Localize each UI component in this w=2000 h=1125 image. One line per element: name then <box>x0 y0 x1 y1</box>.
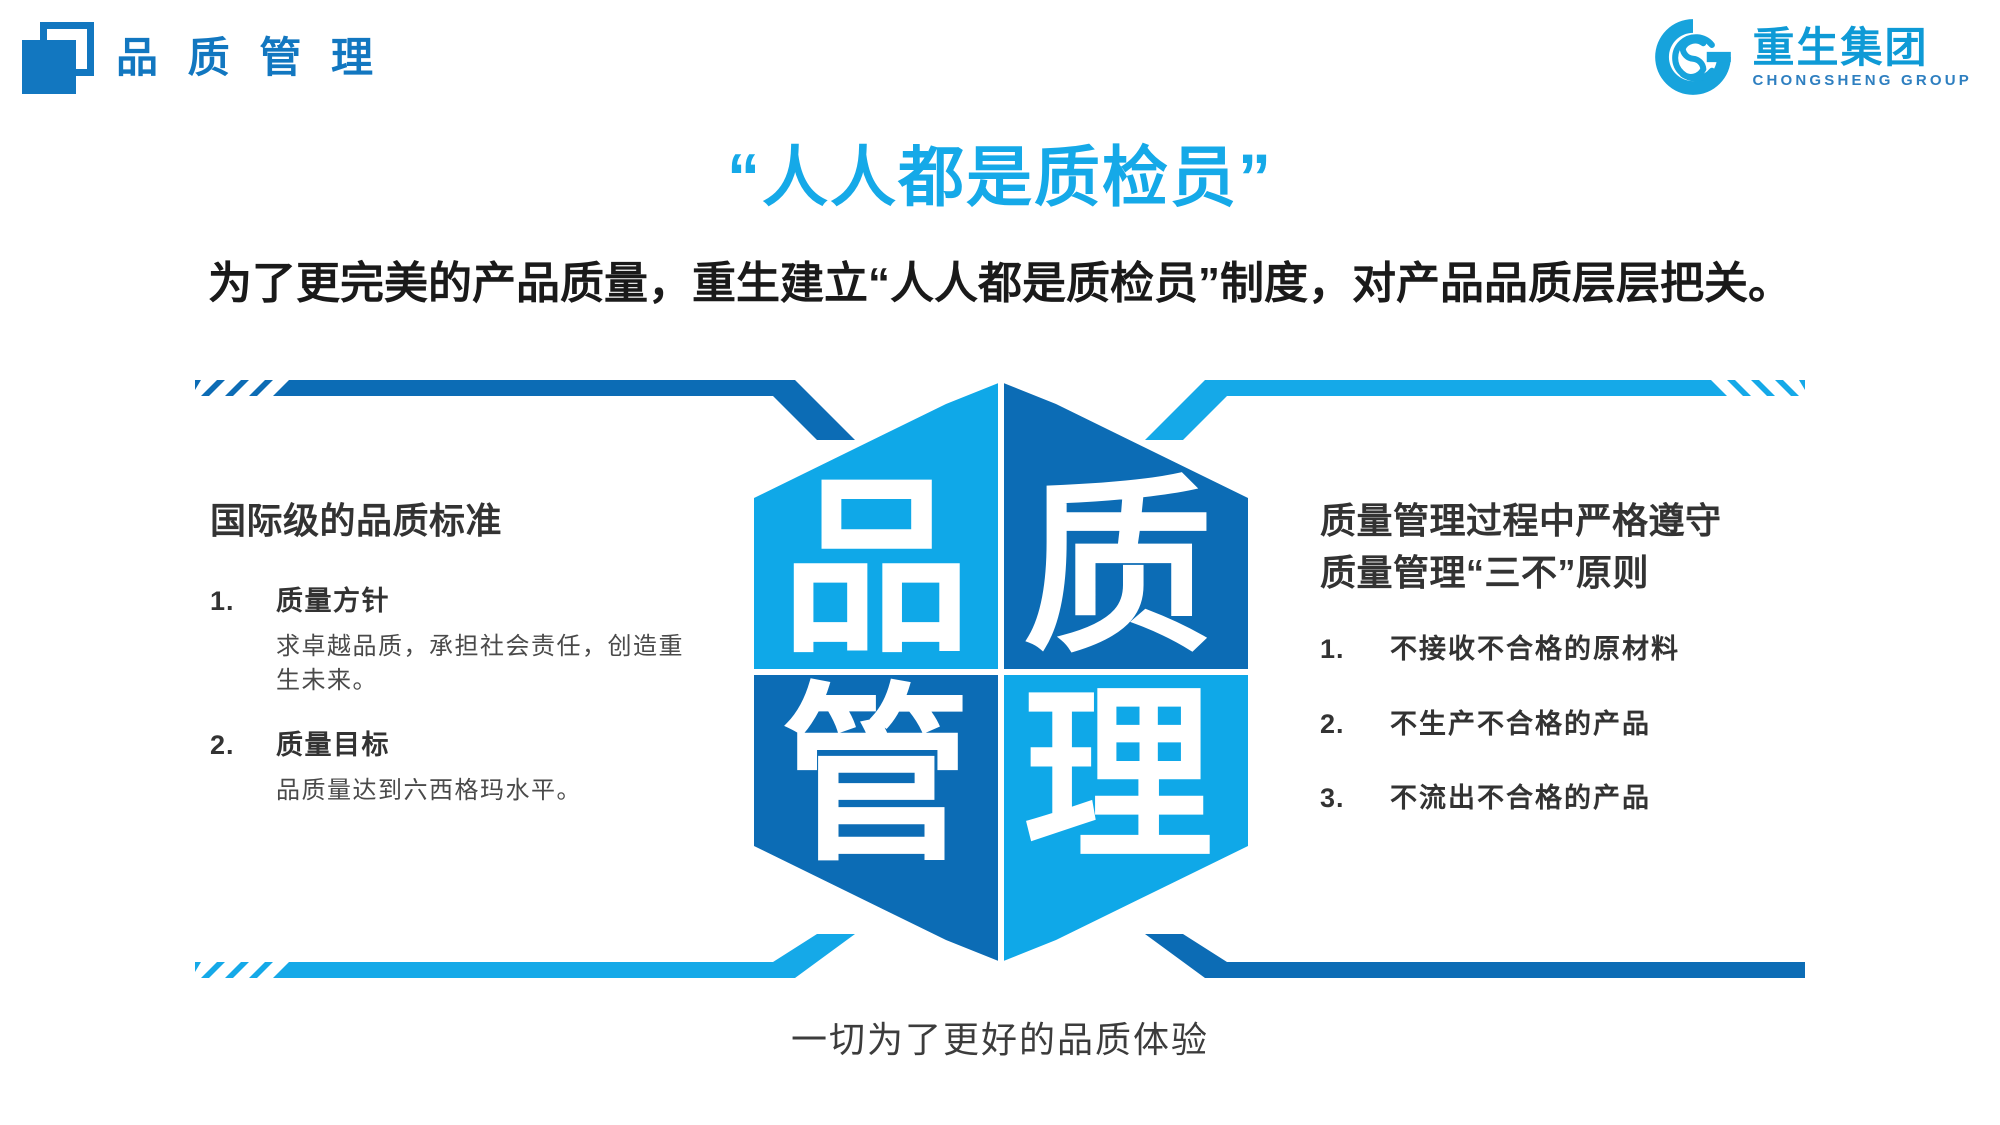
quality-management-emblem: 品 质 管 理 <box>746 382 1256 962</box>
list-item-label: 质量方针 <box>276 581 390 622</box>
list-item-index: 1. <box>210 581 276 622</box>
right-column-heading-line-2: 质量管理“三不”原则 <box>1320 547 1880 599</box>
emblem-char-3: 管 <box>766 682 986 872</box>
emblem-char-1: 品 <box>766 474 986 664</box>
footer-tagline: 一切为了更好的品质体验 <box>0 1018 2000 1061</box>
list-item: 2. 质量目标 <box>210 725 710 766</box>
list-item-label: 不流出不合格的产品 <box>1390 778 1651 819</box>
list-item: 3. 不流出不合格的产品 <box>1320 778 1880 819</box>
hero-title: “人人都是质检员” <box>0 140 2000 216</box>
right-column-heading-line-1: 质量管理过程中严格遵守 <box>1320 495 1880 547</box>
right-column: 质量管理过程中严格遵守 质量管理“三不”原则 1. 不接收不合格的原材料 2. … <box>1320 495 1880 853</box>
logo-wordmark: 重生集团 CHONGSHENG GROUP <box>1752 26 1972 87</box>
list-item-index: 3. <box>1320 778 1390 819</box>
square-filled-shape <box>22 40 76 94</box>
list-item-index: 1. <box>1320 629 1390 670</box>
emblem-char-4: 理 <box>1008 682 1228 872</box>
emblem-char-2: 质 <box>1008 474 1228 664</box>
list-item-label: 质量目标 <box>276 725 390 766</box>
list-item-description: 品质量达到六西格玛水平。 <box>276 774 696 809</box>
logo-name-en: CHONGSHENG GROUP <box>1752 73 1972 88</box>
list-item-label: 不生产不合格的产品 <box>1390 704 1651 745</box>
list-item-description: 求卓越品质，承担社会责任，创造重生未来。 <box>276 630 696 700</box>
header-brand: 品 质 管 理 <box>22 22 382 94</box>
company-logo: 重生集团 CHONGSHENG GROUP <box>1650 14 1972 100</box>
chongsheng-cs-monogram-icon <box>1650 14 1736 100</box>
left-column: 国际级的品质标准 1. 质量方针 求卓越品质，承担社会责任，创造重生未来。 2.… <box>210 495 710 835</box>
list-item-index: 2. <box>1320 704 1390 745</box>
right-column-heading: 质量管理过程中严格遵守 质量管理“三不”原则 <box>1320 495 1880 599</box>
hero-subtitle: 为了更完美的产品质量，重生建立“人人都是质检员”制度，对产品品质层层把关。 <box>0 258 2000 311</box>
left-column-heading: 国际级的品质标准 <box>210 495 710 547</box>
logo-name-cn: 重生集团 <box>1752 26 1928 70</box>
list-item-index: 2. <box>210 725 276 766</box>
overlapping-squares-icon <box>22 22 94 94</box>
page-header: 品 质 管 理 重生集团 CHONGSHENG GROUP <box>0 0 2000 120</box>
list-item: 1. 不接收不合格的原材料 <box>1320 629 1880 670</box>
list-item: 2. 不生产不合格的产品 <box>1320 704 1880 745</box>
page-title: 品 质 管 理 <box>116 37 382 79</box>
list-item: 1. 质量方针 <box>210 581 710 622</box>
list-item-label: 不接收不合格的原材料 <box>1390 629 1680 670</box>
